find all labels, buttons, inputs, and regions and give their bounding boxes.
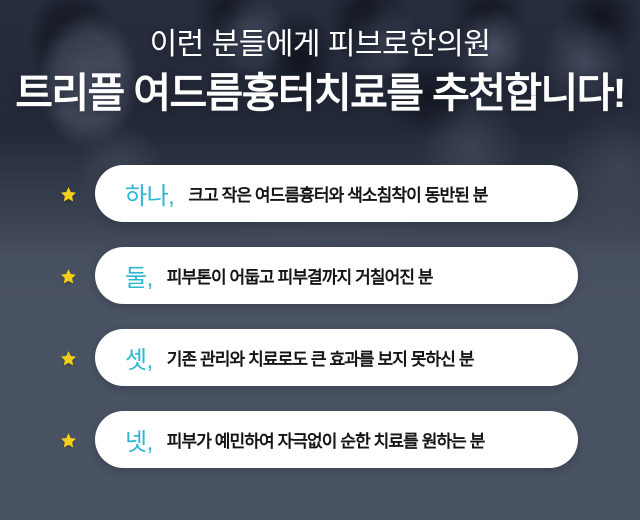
list-item: 셋, 기존 관리와 치료로도 큰 효과를 보지 못하신 분 [0,329,640,386]
condition-list: 하나, 크고 작은 여드름흉터와 색소침착이 동반된 분 둘, 피부톤이 어둡고… [0,165,640,468]
condition-number: 셋, [125,340,153,375]
star-icon [60,186,77,203]
condition-pill[interactable]: 하나, 크고 작은 여드름흉터와 색소침착이 동반된 분 [95,165,578,222]
condition-number: 둘, [125,258,153,293]
condition-text: 피부가 예민하여 자극없이 순한 치료를 원하는 분 [167,427,485,452]
headline-line-1: 이런 분들에게 피브로한의원 [0,30,640,60]
star-icon [60,268,77,285]
headline-line-2: 트리플 여드름흉터치료를 추천합니다! [0,73,640,114]
promo-banner: 이런 분들에게 피브로한의원 트리플 여드름흉터치료를 추천합니다! 하나, 크… [0,0,640,520]
condition-text: 피부톤이 어둡고 피부결까지 거칠어진 분 [167,263,433,288]
list-item: 둘, 피부톤이 어둡고 피부결까지 거칠어진 분 [0,247,640,304]
condition-text: 크고 작은 여드름흉터와 색소침착이 동반된 분 [188,181,487,206]
condition-number: 넷, [125,422,153,457]
condition-text: 기존 관리와 치료로도 큰 효과를 보지 못하신 분 [167,345,474,370]
star-icon [60,432,77,449]
headline-block: 이런 분들에게 피브로한의원 트리플 여드름흉터치료를 추천합니다! [0,30,640,114]
list-item: 하나, 크고 작은 여드름흉터와 색소침착이 동반된 분 [0,165,640,222]
star-icon [60,350,77,367]
condition-pill[interactable]: 둘, 피부톤이 어둡고 피부결까지 거칠어진 분 [95,247,578,304]
list-item: 넷, 피부가 예민하여 자극없이 순한 치료를 원하는 분 [0,411,640,468]
condition-pill[interactable]: 셋, 기존 관리와 치료로도 큰 효과를 보지 못하신 분 [95,329,578,386]
condition-number: 하나, [125,176,174,211]
condition-pill[interactable]: 넷, 피부가 예민하여 자극없이 순한 치료를 원하는 분 [95,411,578,468]
